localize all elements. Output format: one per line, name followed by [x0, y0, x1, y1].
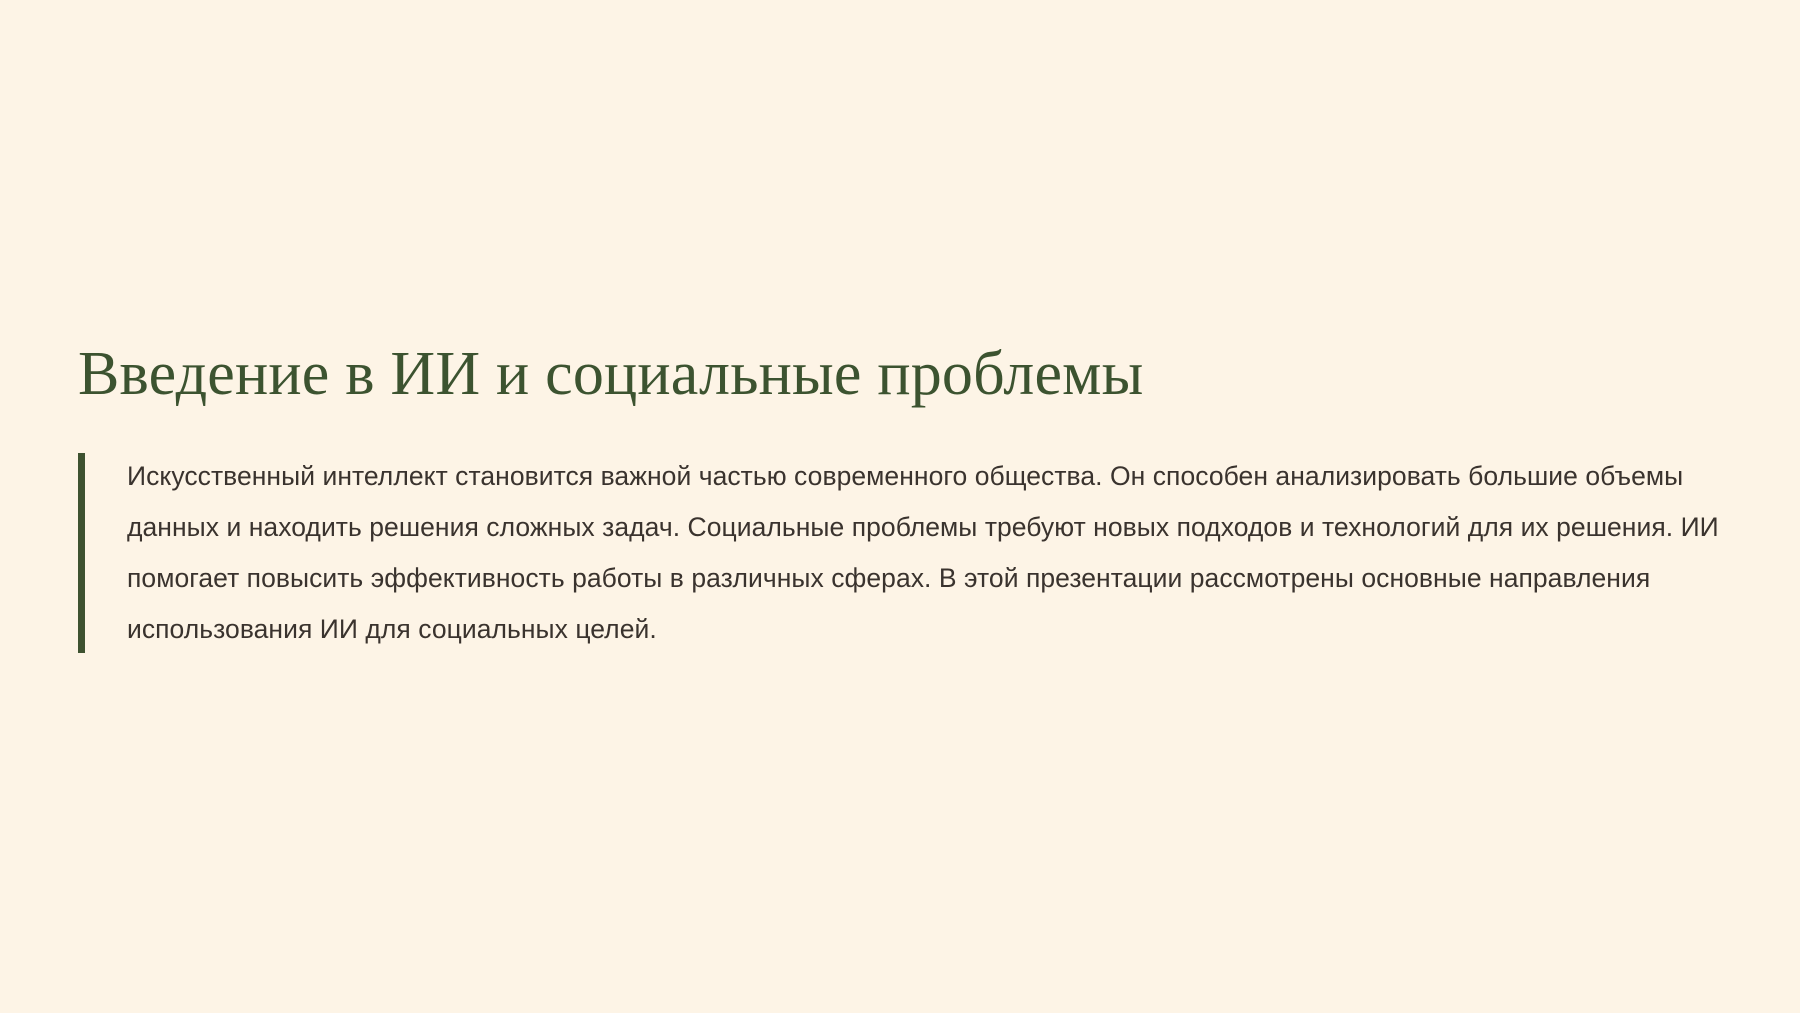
- presentation-slide: Введение в ИИ и социальные проблемы Иску…: [0, 0, 1800, 1013]
- page-title: Введение в ИИ и социальные проблемы: [78, 340, 1722, 409]
- body-callout: Искусственный интеллект становится важно…: [78, 451, 1722, 655]
- accent-bar: [78, 453, 85, 653]
- body-paragraph: Искусственный интеллект становится важно…: [85, 451, 1722, 655]
- slide-content: Введение в ИИ и социальные проблемы Иску…: [78, 340, 1722, 655]
